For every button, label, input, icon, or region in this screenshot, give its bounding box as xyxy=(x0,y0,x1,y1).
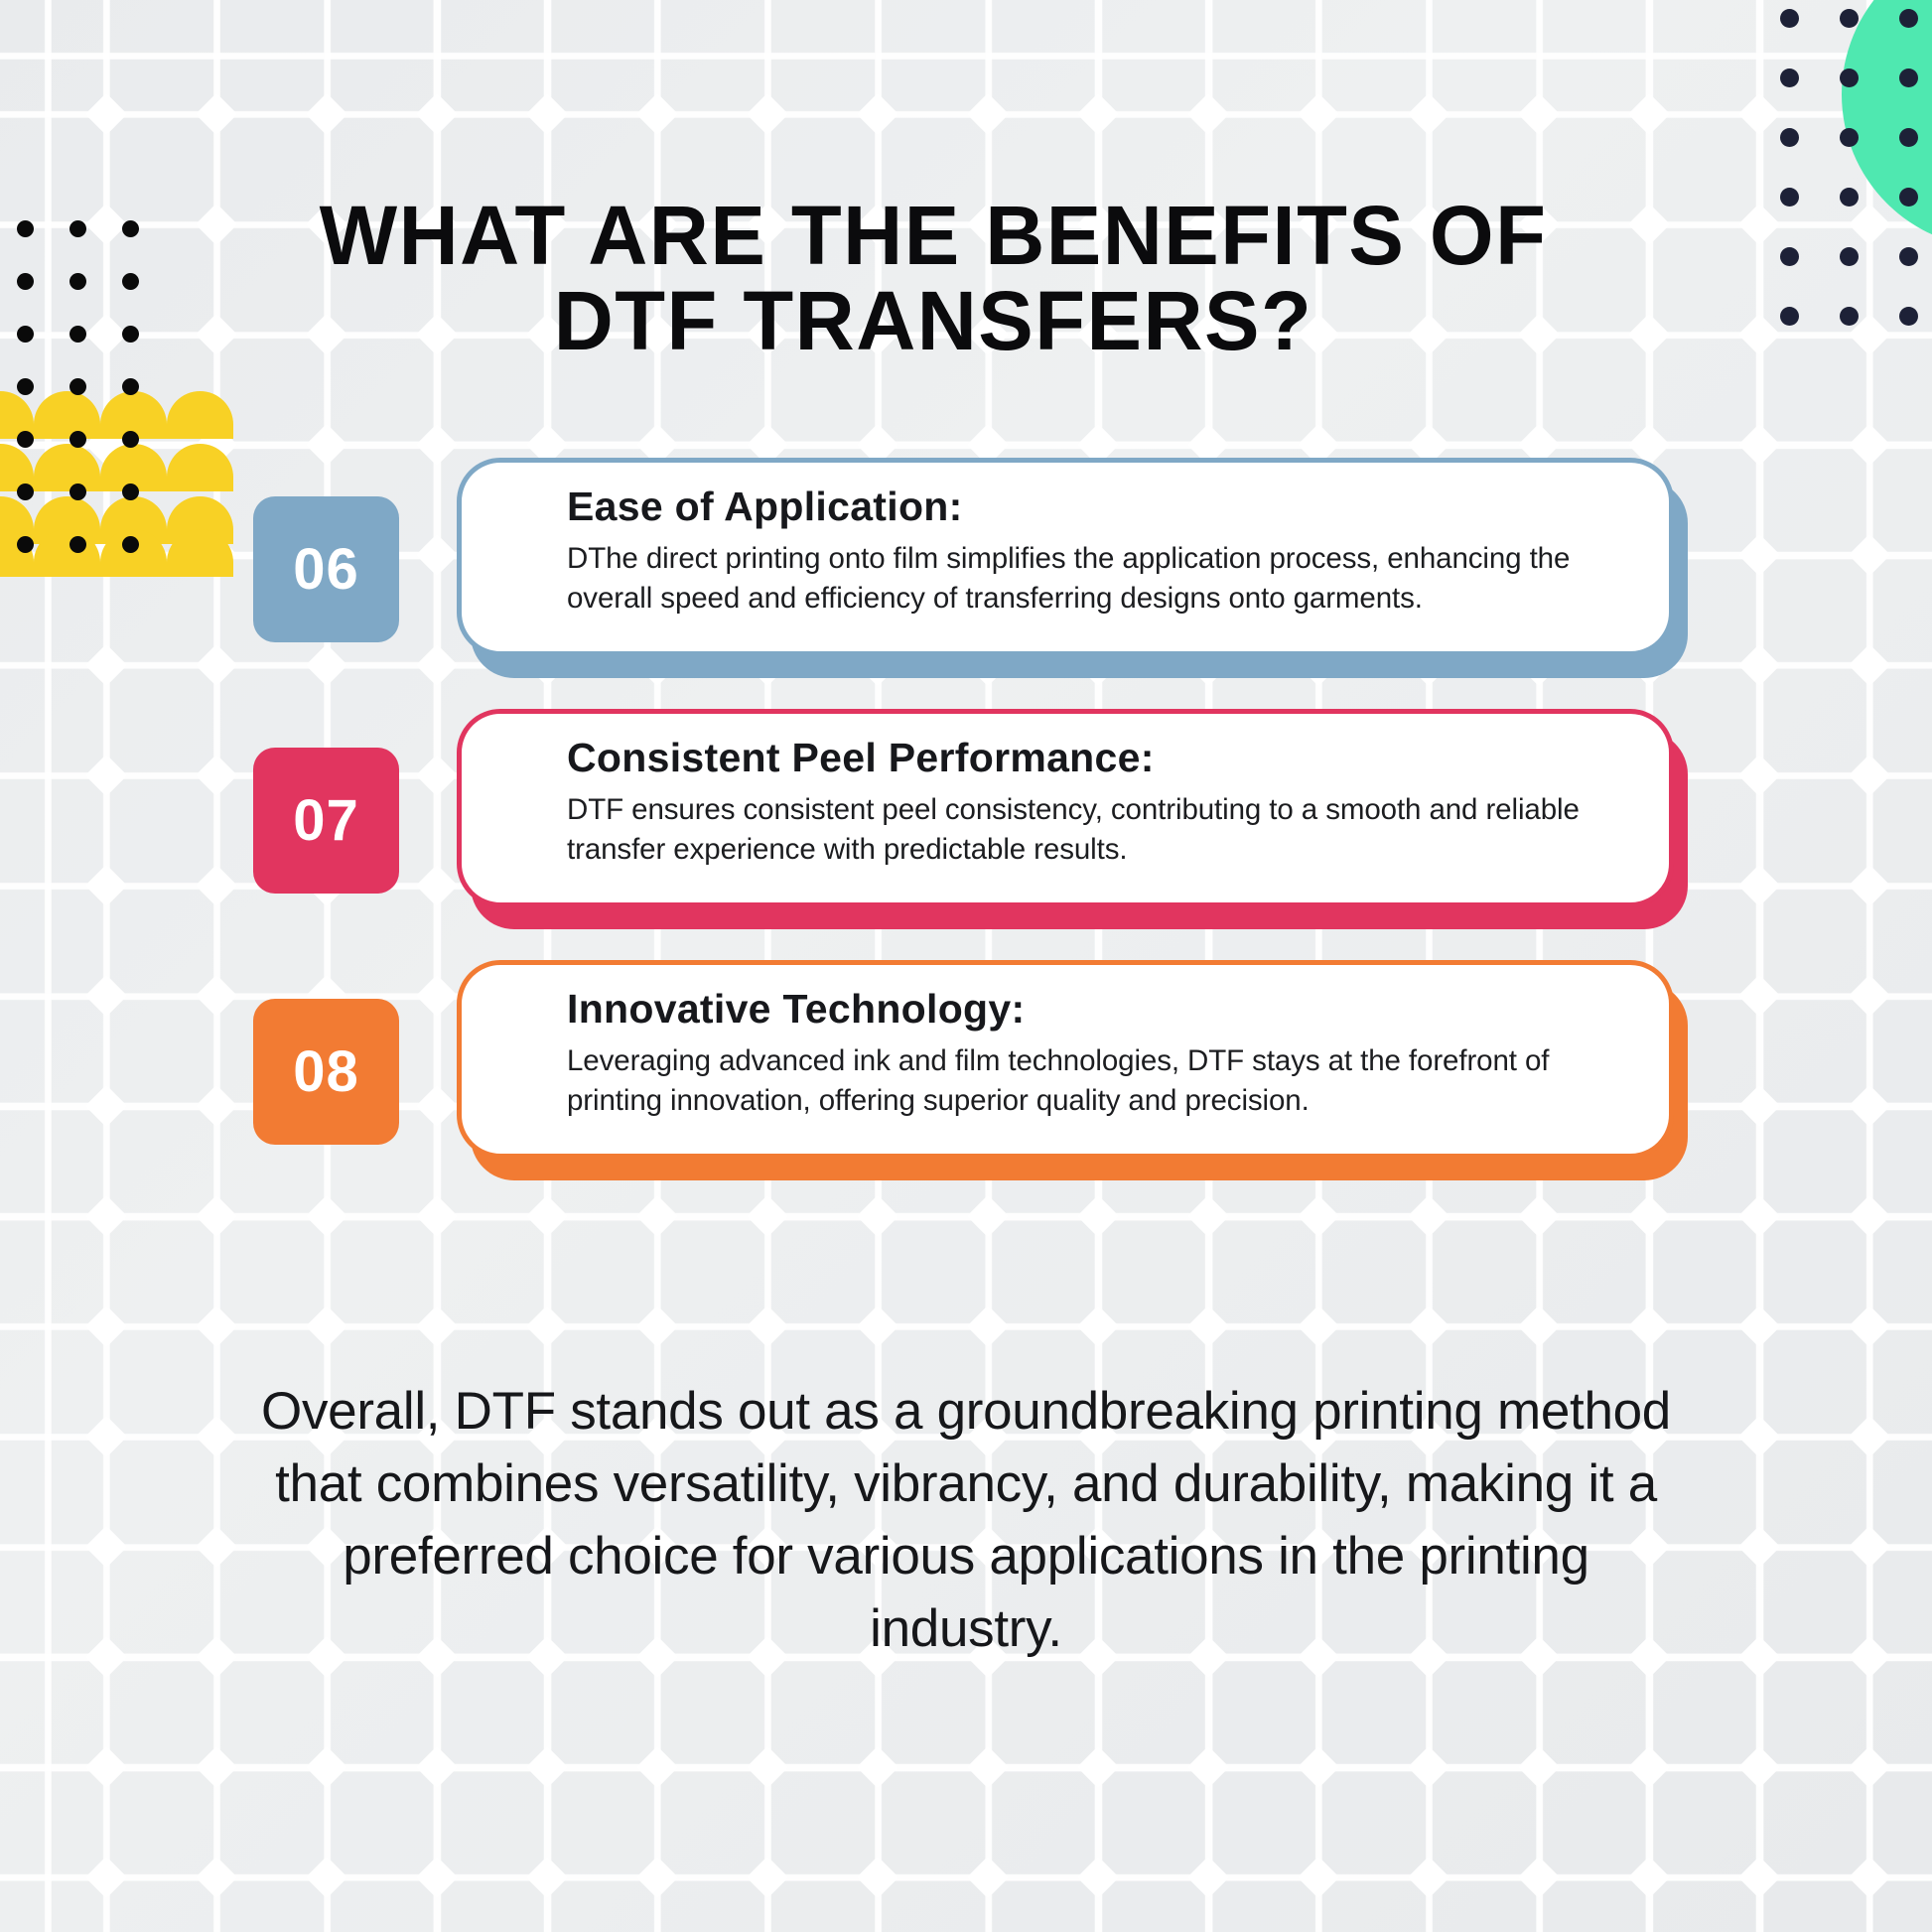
grid-diamond xyxy=(1738,204,1780,245)
decorative-dot xyxy=(1780,188,1799,207)
decorative-dot xyxy=(69,273,86,290)
grid-diamond xyxy=(1298,1857,1339,1898)
grid-diamond xyxy=(1849,1857,1890,1898)
grid-diamond xyxy=(1849,1636,1890,1678)
grid-diamond xyxy=(1518,1746,1560,1788)
grid-diamond xyxy=(1849,93,1890,135)
decorative-dot xyxy=(17,326,34,343)
decorative-dot xyxy=(1840,188,1859,207)
grid-diamond xyxy=(526,1306,568,1347)
grid-diamond xyxy=(306,1857,347,1898)
decorative-dot xyxy=(122,326,139,343)
grid-diamond xyxy=(85,204,127,245)
grid-diamond xyxy=(526,1746,568,1788)
page-title: WHAT ARE THE BENEFITS OF DTF TRANSFERS? xyxy=(235,194,1631,363)
grid-diamond xyxy=(1738,1416,1780,1457)
benefit-card[interactable]: Innovative Technology:Leveraging advance… xyxy=(0,954,1932,1205)
grid-diamond xyxy=(85,1526,127,1568)
grid-diamond xyxy=(1187,1746,1229,1788)
grid-diamond xyxy=(85,314,127,355)
grid-diamond xyxy=(1518,1857,1560,1898)
card-body: Ease of Application:DThe direct printing… xyxy=(457,458,1674,656)
grid-diamond xyxy=(1187,1306,1229,1347)
card-description: DTF ensures consistent peel consistency,… xyxy=(567,790,1629,870)
decorative-dot xyxy=(17,431,34,448)
decorative-dot xyxy=(1840,69,1859,87)
grid-diamond xyxy=(196,1526,237,1568)
grid-diamond xyxy=(1849,314,1890,355)
card-body: Innovative Technology:Leveraging advance… xyxy=(457,960,1674,1159)
grid-diamond xyxy=(85,1416,127,1457)
decorative-dot xyxy=(1899,188,1918,207)
grid-diamond xyxy=(85,1306,127,1347)
grid-diamond xyxy=(1738,1746,1780,1788)
decorative-semicircle xyxy=(100,391,167,439)
decorative-dot xyxy=(69,431,86,448)
decorative-dot xyxy=(1899,307,1918,326)
grid-diamond xyxy=(196,1636,237,1678)
grid-diamond xyxy=(85,1746,127,1788)
grid-diamond xyxy=(1077,1857,1119,1898)
grid-diamond xyxy=(1077,1306,1119,1347)
decorative-dot xyxy=(122,431,139,448)
grid-diamond xyxy=(967,1746,1009,1788)
grid-diamond xyxy=(1849,1306,1890,1347)
grid-diamond xyxy=(1628,93,1670,135)
grid-diamond xyxy=(1849,1746,1890,1788)
grid-diamond xyxy=(416,1306,458,1347)
card-description: DThe direct printing onto film simplifie… xyxy=(567,539,1629,619)
card-body: Consistent Peel Performance:DTF ensures … xyxy=(457,709,1674,907)
benefits-card-list: Ease of Application:DThe direct printing… xyxy=(0,452,1932,1205)
benefit-card[interactable]: Consistent Peel Performance:DTF ensures … xyxy=(0,703,1932,954)
grid-diamond xyxy=(196,1306,237,1347)
footer-summary-text: Overall, DTF stands out as a groundbreak… xyxy=(241,1375,1691,1666)
grid-diamond xyxy=(1628,204,1670,245)
card-number-badge: 08 xyxy=(253,999,399,1145)
decorative-dot xyxy=(122,378,139,395)
decorative-dot xyxy=(1780,69,1799,87)
decorative-dot xyxy=(69,326,86,343)
grid-diamond xyxy=(636,1306,678,1347)
decorative-dot xyxy=(1780,9,1799,28)
grid-diamond xyxy=(306,1746,347,1788)
grid-diamond xyxy=(967,1857,1009,1898)
grid-diamond xyxy=(1077,93,1119,135)
decorative-semicircle xyxy=(34,391,100,439)
grid-diamond xyxy=(1298,1306,1339,1347)
grid-diamond xyxy=(967,93,1009,135)
teal-circle-decoration xyxy=(1842,0,1932,248)
grid-diamond xyxy=(1628,1746,1670,1788)
grid-diamond xyxy=(1187,93,1229,135)
grid-diamond xyxy=(747,93,788,135)
grid-diamond xyxy=(1738,1526,1780,1568)
grid-diamond xyxy=(1187,1857,1229,1898)
grid-diamond xyxy=(1738,314,1780,355)
decorative-dot xyxy=(122,273,139,290)
grid-diamond xyxy=(1628,1857,1670,1898)
decorative-dot xyxy=(1899,128,1918,147)
decorative-dot xyxy=(17,220,34,237)
grid-diamond xyxy=(1849,1416,1890,1457)
grid-diamond xyxy=(1738,1306,1780,1347)
card-title: Innovative Technology: xyxy=(567,987,1629,1033)
grid-diamond xyxy=(416,1746,458,1788)
grid-diamond xyxy=(747,1306,788,1347)
decorative-dot xyxy=(1840,307,1859,326)
decorative-dot xyxy=(69,220,86,237)
decorative-dot xyxy=(1899,69,1918,87)
grid-diamond xyxy=(416,93,458,135)
grid-diamond xyxy=(1408,1857,1449,1898)
grid-diamond xyxy=(1408,1746,1449,1788)
grid-diamond xyxy=(636,93,678,135)
decorative-dot xyxy=(17,378,34,395)
grid-diamond xyxy=(196,204,237,245)
grid-diamond xyxy=(196,93,237,135)
decorative-dot xyxy=(1840,128,1859,147)
grid-diamond xyxy=(747,1857,788,1898)
grid-diamond xyxy=(1738,1857,1780,1898)
grid-diamond xyxy=(526,93,568,135)
grid-diamond xyxy=(196,1857,237,1898)
decorative-semicircle xyxy=(167,391,233,439)
grid-diamond xyxy=(85,1857,127,1898)
grid-diamond xyxy=(857,93,898,135)
grid-diamond xyxy=(857,1746,898,1788)
grid-diamond xyxy=(1628,1306,1670,1347)
decorative-dot xyxy=(17,273,34,290)
grid-diamond xyxy=(1738,1636,1780,1678)
decorative-dot xyxy=(1899,9,1918,28)
card-number-badge: 06 xyxy=(253,496,399,642)
grid-diamond xyxy=(85,93,127,135)
grid-diamond xyxy=(967,1306,1009,1347)
decorative-semicircle xyxy=(0,391,34,439)
decorative-dot xyxy=(1780,307,1799,326)
decorative-dot xyxy=(1840,247,1859,266)
decorative-dot xyxy=(69,378,86,395)
grid-diamond xyxy=(416,1857,458,1898)
grid-diamond xyxy=(1298,1746,1339,1788)
grid-diamond xyxy=(1408,93,1449,135)
grid-diamond xyxy=(306,93,347,135)
grid-diamond xyxy=(857,1857,898,1898)
card-number-badge: 07 xyxy=(253,748,399,894)
grid-diamond xyxy=(306,1306,347,1347)
grid-diamond xyxy=(1738,93,1780,135)
grid-diamond xyxy=(1077,1746,1119,1788)
benefit-card[interactable]: Ease of Application:DThe direct printing… xyxy=(0,452,1932,703)
card-title: Ease of Application: xyxy=(567,484,1629,530)
grid-diamond xyxy=(1518,1306,1560,1347)
grid-diamond xyxy=(196,1746,237,1788)
decorative-dot xyxy=(1840,9,1859,28)
grid-diamond xyxy=(526,1857,568,1898)
grid-diamond xyxy=(196,1416,237,1457)
grid-diamond xyxy=(1849,1526,1890,1568)
decorative-dot xyxy=(1780,128,1799,147)
decorative-dot xyxy=(122,220,139,237)
grid-diamond xyxy=(85,1636,127,1678)
grid-diamond xyxy=(1628,314,1670,355)
card-title: Consistent Peel Performance: xyxy=(567,736,1629,781)
grid-diamond xyxy=(1408,1306,1449,1347)
decorative-dot xyxy=(1780,247,1799,266)
grid-diamond xyxy=(747,1746,788,1788)
grid-diamond xyxy=(1298,93,1339,135)
decorative-dot xyxy=(1899,247,1918,266)
card-description: Leveraging advanced ink and film technol… xyxy=(567,1041,1629,1121)
grid-diamond xyxy=(636,1857,678,1898)
infographic-canvas: WHAT ARE THE BENEFITS OF DTF TRANSFERS? … xyxy=(0,0,1932,1932)
grid-diamond xyxy=(636,1746,678,1788)
grid-diamond xyxy=(857,1306,898,1347)
grid-diamond xyxy=(1518,93,1560,135)
grid-diamond xyxy=(196,314,237,355)
grid-diamond xyxy=(1849,204,1890,245)
